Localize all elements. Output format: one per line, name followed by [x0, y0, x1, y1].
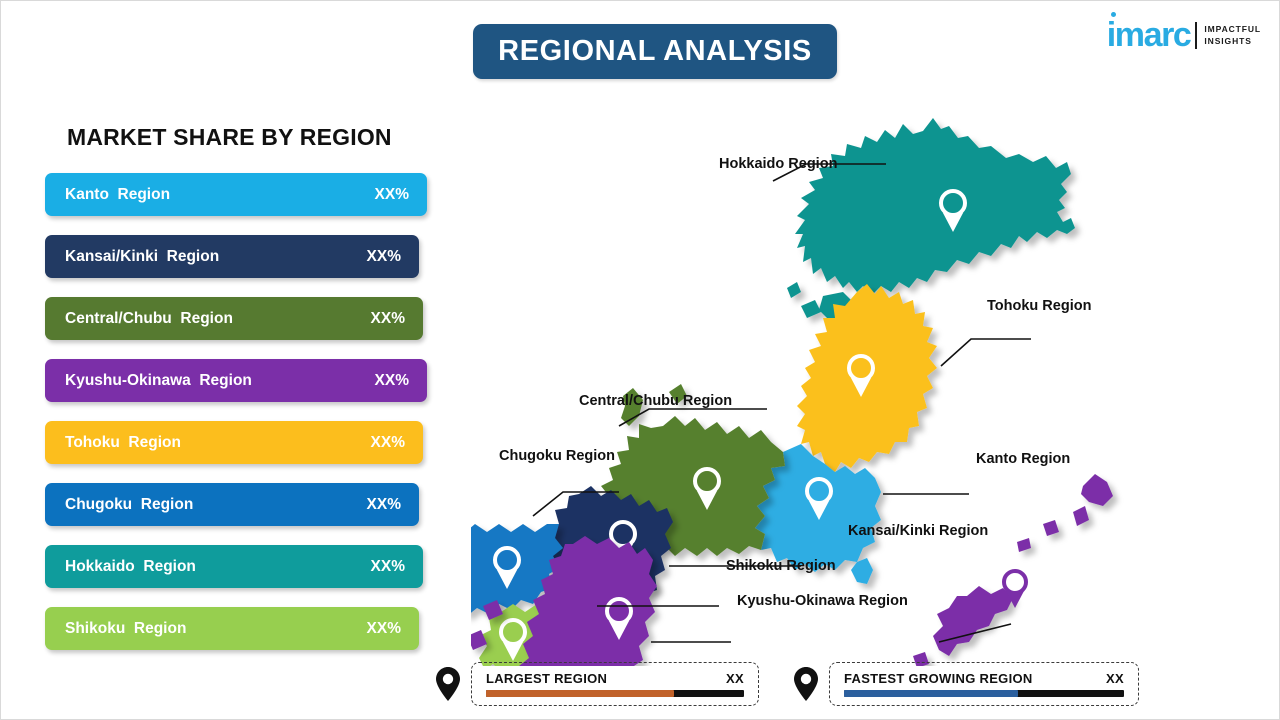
imarc-logo: imarc IMPACTFUL INSIGHTS — [1107, 15, 1261, 55]
japan-map-svg — [471, 96, 1171, 666]
kyushu-islet-goto — [471, 630, 487, 650]
hokkaido-islet-1 — [787, 282, 801, 298]
page-title-banner: REGIONAL ANALYSIS — [473, 24, 837, 79]
okinawa-amami — [1081, 474, 1113, 506]
okinawa-islet-b — [1043, 520, 1059, 536]
leader-line-tohoku — [941, 339, 1031, 366]
legend-row-value: XX% — [371, 434, 405, 452]
map-label-chugoku: Chugoku Region — [499, 448, 615, 464]
logo-divider — [1195, 22, 1197, 49]
map-label-okinawa: Kyushu-Okinawa Region — [737, 593, 908, 609]
map-label-kanto: Kanto Region — [976, 451, 1070, 467]
okinawa-islet-a — [1073, 506, 1089, 526]
market-share-heading: MARKET SHARE BY REGION — [67, 124, 392, 151]
legend-row-label: Kansai/Kinki Region — [65, 248, 219, 266]
largest-region-label: LARGEST REGION — [486, 671, 607, 686]
location-pin-icon — [435, 666, 461, 702]
legend-row-label: Kanto Region — [65, 186, 170, 204]
legend-row-label: Tohoku Region — [65, 434, 181, 452]
logo-tagline: IMPACTFUL INSIGHTS — [1204, 23, 1261, 48]
legend-row-value: XX% — [367, 496, 401, 514]
fastest-region-progress-track — [844, 690, 1124, 697]
fastest-region-label: FASTEST GROWING REGION — [844, 671, 1033, 686]
legend-row-label: Kyushu-Okinawa Region — [65, 372, 252, 390]
fastest-region-value: XX — [1088, 671, 1124, 686]
slide-canvas: REGIONAL ANALYSIS imarc IMPACTFUL INSIGH… — [0, 0, 1280, 720]
legend-row-label: Chugoku Region — [65, 496, 193, 514]
legend-row-value: XX% — [371, 558, 405, 576]
largest-region-box: LARGEST REGION XX — [471, 662, 759, 706]
okinawa-islet-c — [1017, 538, 1031, 552]
legend-row-value: XX% — [375, 186, 409, 204]
hokkaido-islet-2 — [801, 300, 821, 318]
largest-region-value: XX — [708, 671, 744, 686]
kanto-peninsula — [851, 558, 873, 584]
largest-region-indicator: LARGEST REGION XX — [435, 661, 759, 707]
legend-row[interactable]: Kansai/Kinki RegionXX% — [45, 235, 419, 278]
logo-tagline-line2: INSIGHTS — [1204, 35, 1261, 47]
logo-wordmark: imarc — [1107, 18, 1191, 52]
legend-row[interactable]: Tohoku RegionXX% — [45, 421, 423, 464]
map-label-shikoku: Shikoku Region — [726, 558, 836, 574]
legend-row-value: XX% — [371, 310, 405, 328]
legend-row-label: Central/Chubu Region — [65, 310, 233, 328]
legend-row[interactable]: Hokkaido RegionXX% — [45, 545, 423, 588]
legend-row[interactable]: Central/Chubu RegionXX% — [45, 297, 423, 340]
legend-row-value: XX% — [375, 372, 409, 390]
map-label-hokkaido: Hokkaido Region — [719, 156, 837, 172]
legend-row-value: XX% — [367, 248, 401, 266]
legend-row[interactable]: Kanto RegionXX% — [45, 173, 427, 216]
map-label-chubu: Central/Chubu Region — [579, 393, 732, 409]
legend-row[interactable]: Shikoku RegionXX% — [45, 607, 419, 650]
market-share-legend-list: Kanto RegionXX%Kansai/Kinki RegionXX%Cen… — [45, 173, 445, 669]
japan-map: Hokkaido Region Tohoku Region Kanto Regi… — [471, 96, 1171, 666]
legend-row-label: Shikoku Region — [65, 620, 186, 638]
logo-wordmark-text: imarc — [1107, 16, 1191, 54]
map-region-hokkaido[interactable] — [787, 118, 1075, 322]
okinawa-pin-body — [1004, 571, 1026, 593]
page-title: REGIONAL ANALYSIS — [498, 35, 812, 68]
logo-dot-icon — [1111, 12, 1116, 17]
legend-row[interactable]: Chugoku RegionXX% — [45, 483, 419, 526]
legend-row-label: Hokkaido Region — [65, 558, 196, 576]
fastest-region-progress-fill — [844, 690, 1018, 697]
logo-tagline-line1: IMPACTFUL — [1204, 23, 1261, 35]
legend-row[interactable]: Kyushu-Okinawa RegionXX% — [45, 359, 427, 402]
okinawa-main-island — [933, 586, 1013, 656]
fastest-region-box: FASTEST GROWING REGION XX — [829, 662, 1139, 706]
map-label-tohoku: Tohoku Region — [987, 298, 1091, 314]
largest-region-progress-fill — [486, 690, 674, 697]
largest-region-progress-track — [486, 690, 744, 697]
hokkaido-shape — [795, 118, 1075, 294]
location-pin-icon — [793, 666, 819, 702]
fastest-growing-region-indicator: FASTEST GROWING REGION XX — [793, 661, 1139, 707]
legend-row-value: XX% — [367, 620, 401, 638]
map-label-kansai: Kansai/Kinki Region — [848, 523, 988, 539]
